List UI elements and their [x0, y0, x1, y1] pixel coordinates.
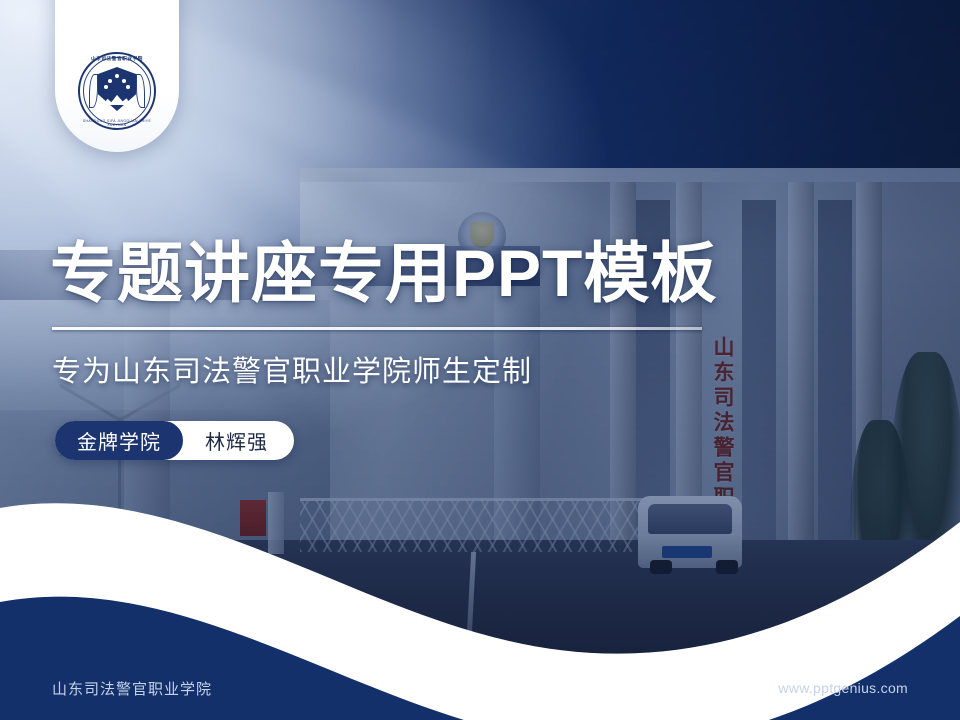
emblem-star — [115, 74, 119, 78]
emblem-pinyin-text: SHANDONG SIFA JINGGUAN ZHIYE XUEYUAN — [78, 119, 156, 127]
footer-website-url[interactable]: www.pptgenius.com — [778, 680, 908, 696]
badge-author-name: 林辉强 — [183, 426, 268, 455]
emblem-chinese-text: 山东司法警官职业学院 — [78, 56, 156, 62]
badge-tag-label: 金牌学院 — [55, 421, 183, 460]
emblem-star — [108, 79, 112, 83]
page-title: 专题讲座专用PPT模板 — [50, 240, 717, 306]
credit-badge: 金牌学院 林辉强 — [55, 421, 294, 460]
ppt-slide-cover: 山东司法警官职业学院 — [0, 0, 960, 720]
college-emblem-icon: 山东司法警官职业学院 SHANDONG SIFA JINGGUAN ZHIYE … — [78, 52, 156, 130]
title-divider — [52, 327, 702, 330]
emblem-star — [104, 85, 108, 89]
emblem-star — [126, 85, 130, 89]
footer-college-name: 山东司法警官职业学院 — [52, 678, 212, 699]
emblem-star — [122, 79, 126, 83]
page-subtitle: 专为山东司法警官职业学院师生定制 — [52, 348, 532, 390]
